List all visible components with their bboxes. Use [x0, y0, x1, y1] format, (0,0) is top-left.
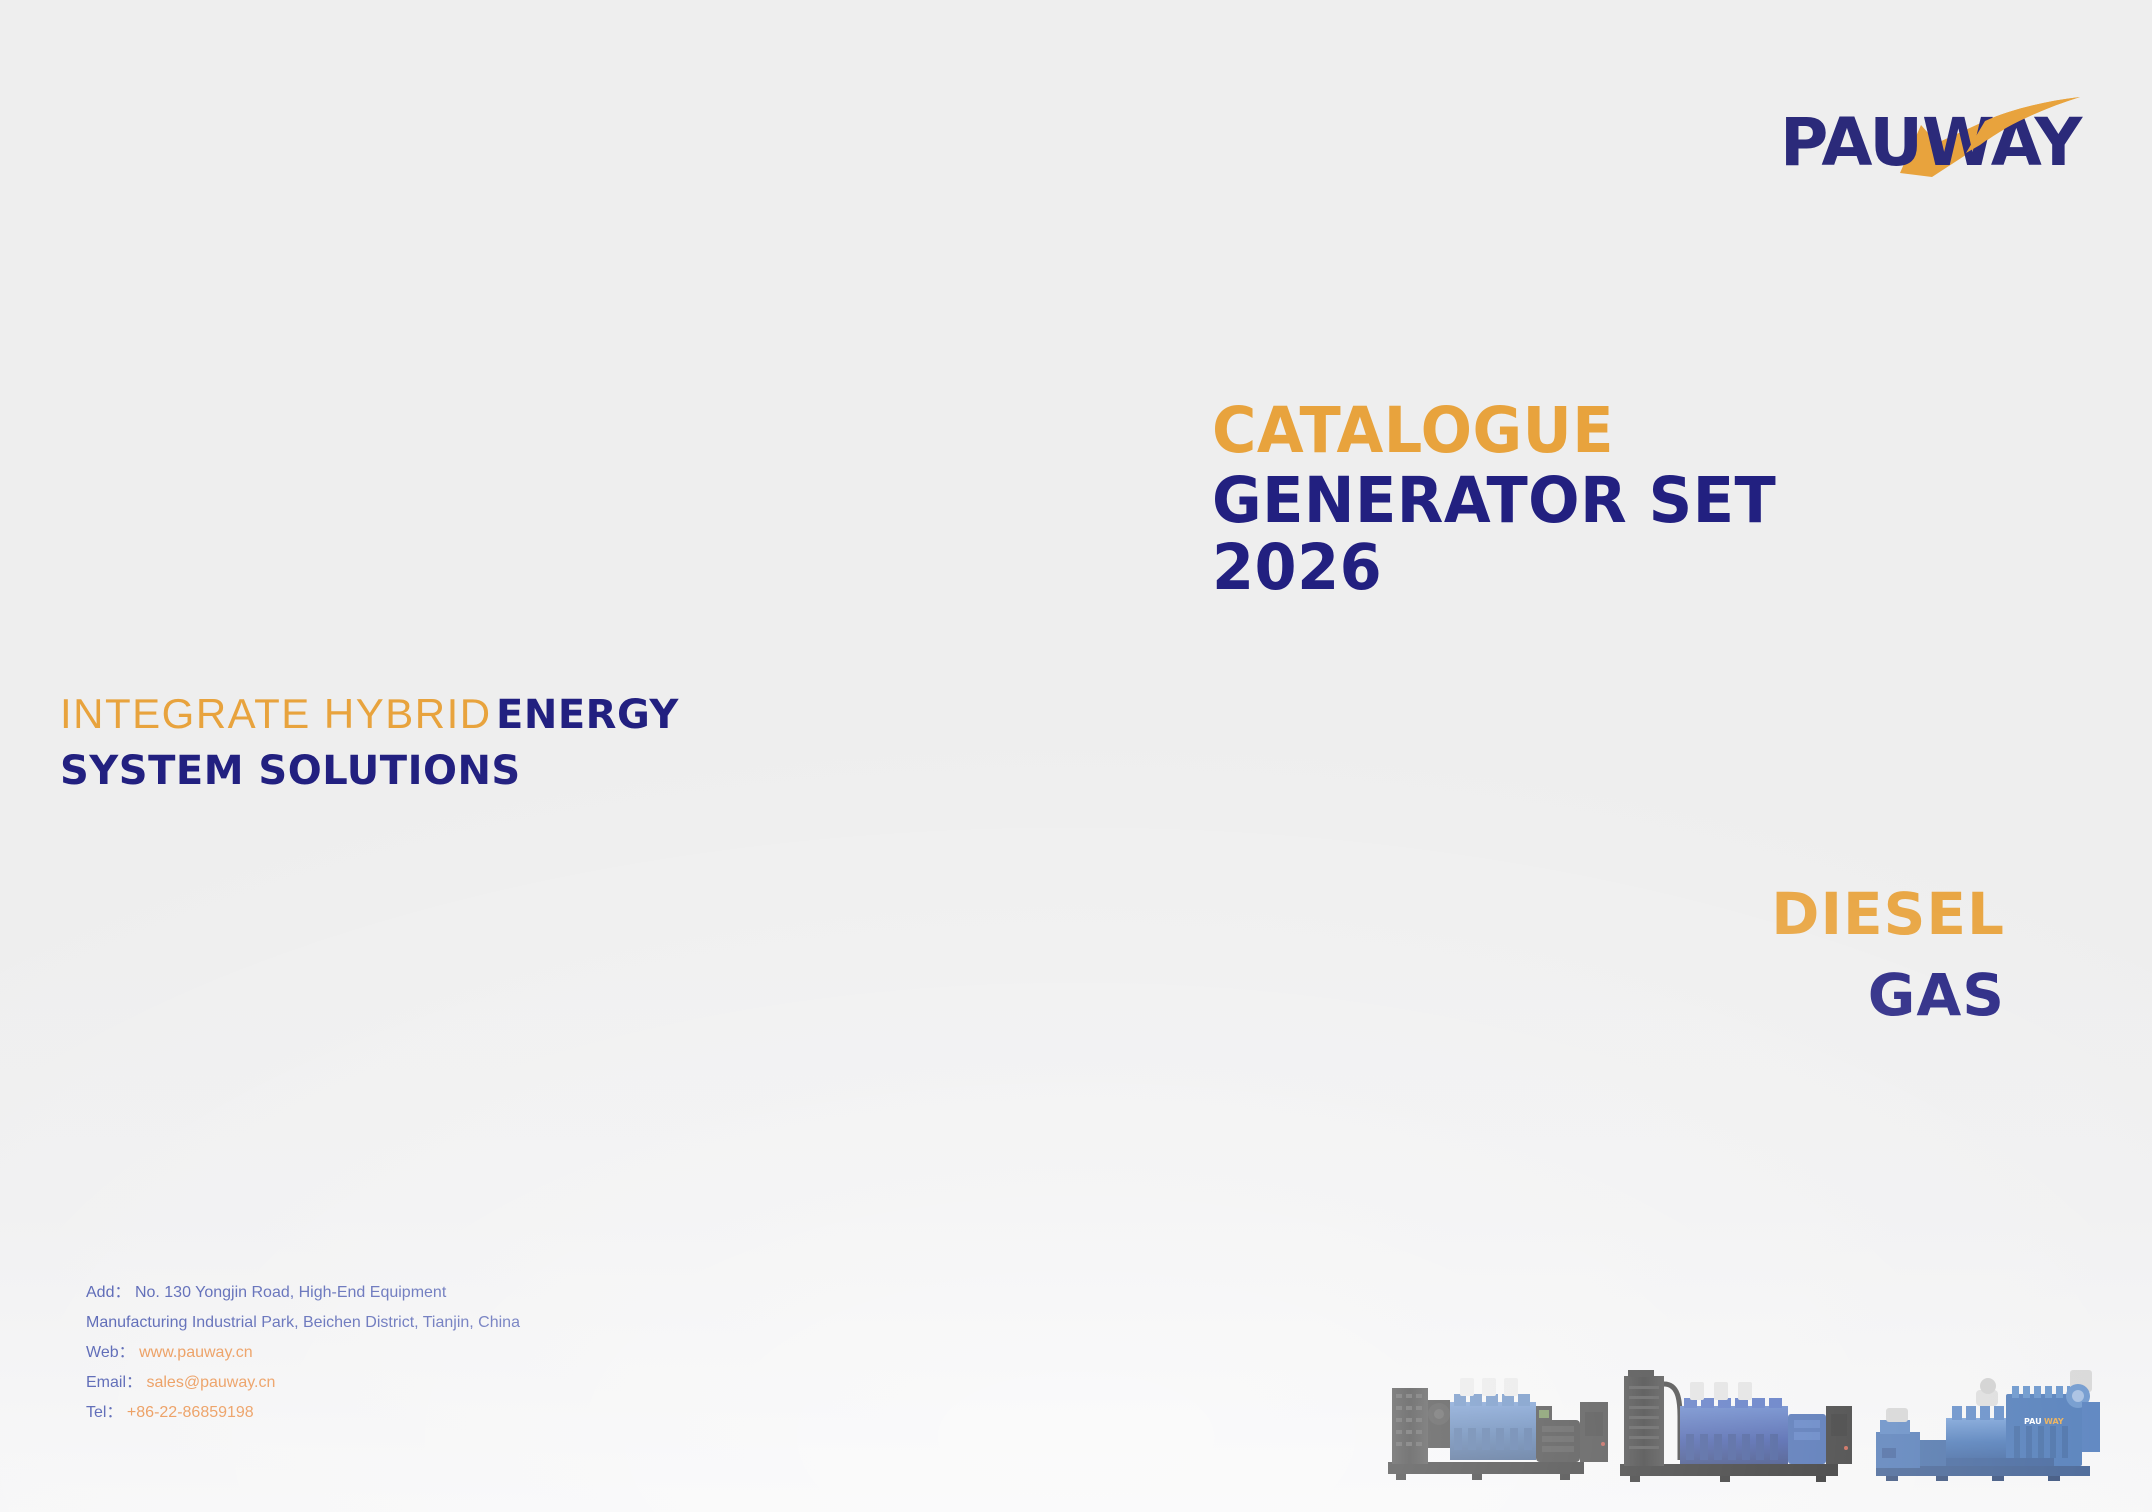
contact-address-value-line1: No. 130 Yongjin Road, High-End Equipment [135, 1284, 446, 1301]
title-catalogue: CATALOGUE [1212, 400, 1980, 462]
contact-address-row-2: Manufacturing Industrial Park, Beichen D… [86, 1308, 520, 1338]
catalogue-title-block: CATALOGUE GENERATOR SET 2026 [1212, 400, 2012, 599]
contact-web-value[interactable]: www.pauway.cn [139, 1344, 253, 1361]
title-generator-set: GENERATOR SET [1212, 470, 1980, 532]
company-tagline: INTEGRATE HYBRID ENERGY SYSTEM SOLUTIONS [60, 693, 960, 794]
fuel-diesel-label: DIESEL [1100, 885, 2005, 944]
tagline-energy: ENERGY [496, 692, 679, 738]
pauway-logo: PAUWAY [1780, 95, 2090, 180]
contact-address-row-1: Add： No. 130 Yongjin Road, High-End Equi… [86, 1278, 520, 1308]
genset-image-2 [1620, 1370, 1852, 1482]
contact-address-label: Add： [86, 1284, 130, 1301]
contact-tel-value: +86-22-86859198 [127, 1404, 254, 1421]
generator-set-photos: PAU WAY [1380, 1340, 2110, 1490]
contact-email-row: Email： sales@pauway.cn [86, 1368, 520, 1398]
fuel-type-block: DIESEL GAS [1100, 885, 2005, 1025]
genset-decal-logo: PAU [2024, 1417, 2042, 1426]
genset-image-1 [1388, 1378, 1608, 1480]
tagline-system-solutions: SYSTEM SOLUTIONS [60, 748, 960, 794]
contact-block: Add： No. 130 Yongjin Road, High-End Equi… [86, 1278, 520, 1428]
tagline-integrate-hybrid: INTEGRATE HYBRID [60, 690, 492, 737]
contact-email-value[interactable]: sales@pauway.cn [146, 1374, 275, 1391]
contact-tel-row: Tel： +86-22-86859198 [86, 1398, 520, 1428]
genset-decal-swoosh-icon: WAY [2044, 1417, 2064, 1426]
fuel-gas-label: GAS [1100, 966, 2005, 1025]
genset-image-3: PAU WAY [1876, 1370, 2100, 1481]
tagline-row-1: INTEGRATE HYBRID ENERGY [60, 693, 960, 736]
catalogue-cover-spread: PAUWAY CATALOGUE GENERATOR SET 2026 DIES… [0, 0, 2152, 1512]
contact-web-row: Web： www.pauway.cn [86, 1338, 520, 1368]
contact-email-label: Email： [86, 1374, 142, 1391]
contact-address-value-line2: Manufacturing Industrial Park, Beichen D… [86, 1314, 520, 1331]
title-year: 2026 [1212, 537, 1980, 599]
contact-tel-label: Tel： [86, 1404, 122, 1421]
contact-web-label: Web： [86, 1344, 135, 1361]
logo-wordmark: PAUWAY [1780, 104, 2084, 180]
